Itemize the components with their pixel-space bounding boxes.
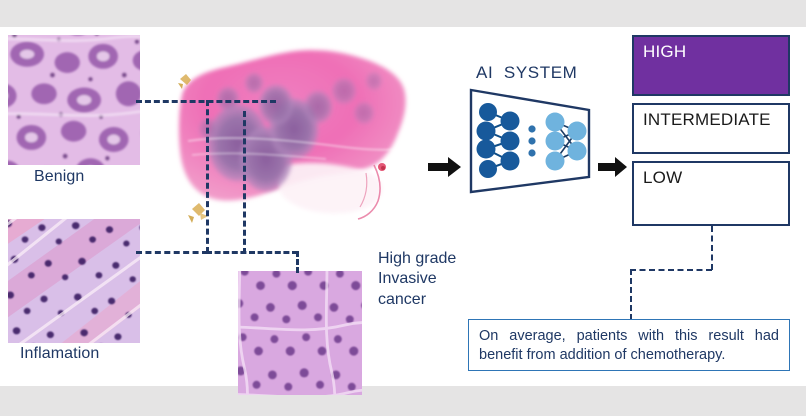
connector-risk-to-caption-seg3 <box>630 269 632 320</box>
risk-box-low[interactable]: LOW <box>632 161 790 226</box>
bottom-letterbox-band <box>0 386 806 416</box>
connector-cancer-tile-riser <box>296 251 299 273</box>
tile-label-inflamation: Inflamation <box>20 345 99 363</box>
arrow-out-of-ai-system <box>598 155 628 184</box>
top-letterbox-band <box>0 0 806 27</box>
risk-box-intermediate[interactable]: INTERMEDIATE <box>632 103 790 154</box>
cancer-label-line-1: High grade <box>378 249 498 269</box>
arrow-right-icon <box>428 155 462 179</box>
neural-network-icon <box>466 85 596 197</box>
tile-label-benign: Benign <box>34 168 84 186</box>
connector-risk-to-caption-seg1 <box>711 226 713 270</box>
connector-roi-to-cancer-tile <box>206 251 298 254</box>
risk-box-high[interactable]: HIGH <box>632 35 790 96</box>
connector-roi-right-edge <box>243 111 246 254</box>
histology-tile-benign[interactable] <box>8 35 140 165</box>
caption-box: On average, patients with this result ha… <box>468 319 790 371</box>
risk-box-intermediate-label: INTERMEDIATE <box>643 110 771 130</box>
cancer-label-line-3: cancer <box>378 290 498 310</box>
inflamation-histology-icon <box>8 219 140 343</box>
arrow-right-icon <box>598 155 628 179</box>
benign-histology-icon <box>8 35 140 165</box>
ai-system-box[interactable] <box>466 85 596 197</box>
whole-slide-image-graphic <box>168 37 414 245</box>
figure-canvas: Benign <box>0 0 806 416</box>
histology-tile-inflamation[interactable] <box>8 219 140 343</box>
caption-text: On average, patients with this result ha… <box>469 320 789 366</box>
whole-slide-image <box>168 37 414 245</box>
tile-label-cancer: High grade Invasive cancer <box>378 249 498 310</box>
connector-inflamation-riser <box>206 100 209 253</box>
connector-risk-to-caption-seg2 <box>630 269 712 271</box>
cancer-label-line-2: Invasive <box>378 269 498 289</box>
histology-tile-cancer[interactable] <box>238 271 362 395</box>
diagram-stage: Benign <box>0 27 806 386</box>
hidden-layer-dots <box>528 125 535 156</box>
risk-box-high-label: HIGH <box>643 42 686 62</box>
connector-inflamation-to-slide <box>136 251 208 254</box>
ai-system-title: AI SYSTEM <box>476 63 577 83</box>
arrow-into-ai-system <box>428 155 462 184</box>
risk-box-low-label: LOW <box>643 168 682 188</box>
cancer-histology-icon <box>238 271 362 395</box>
